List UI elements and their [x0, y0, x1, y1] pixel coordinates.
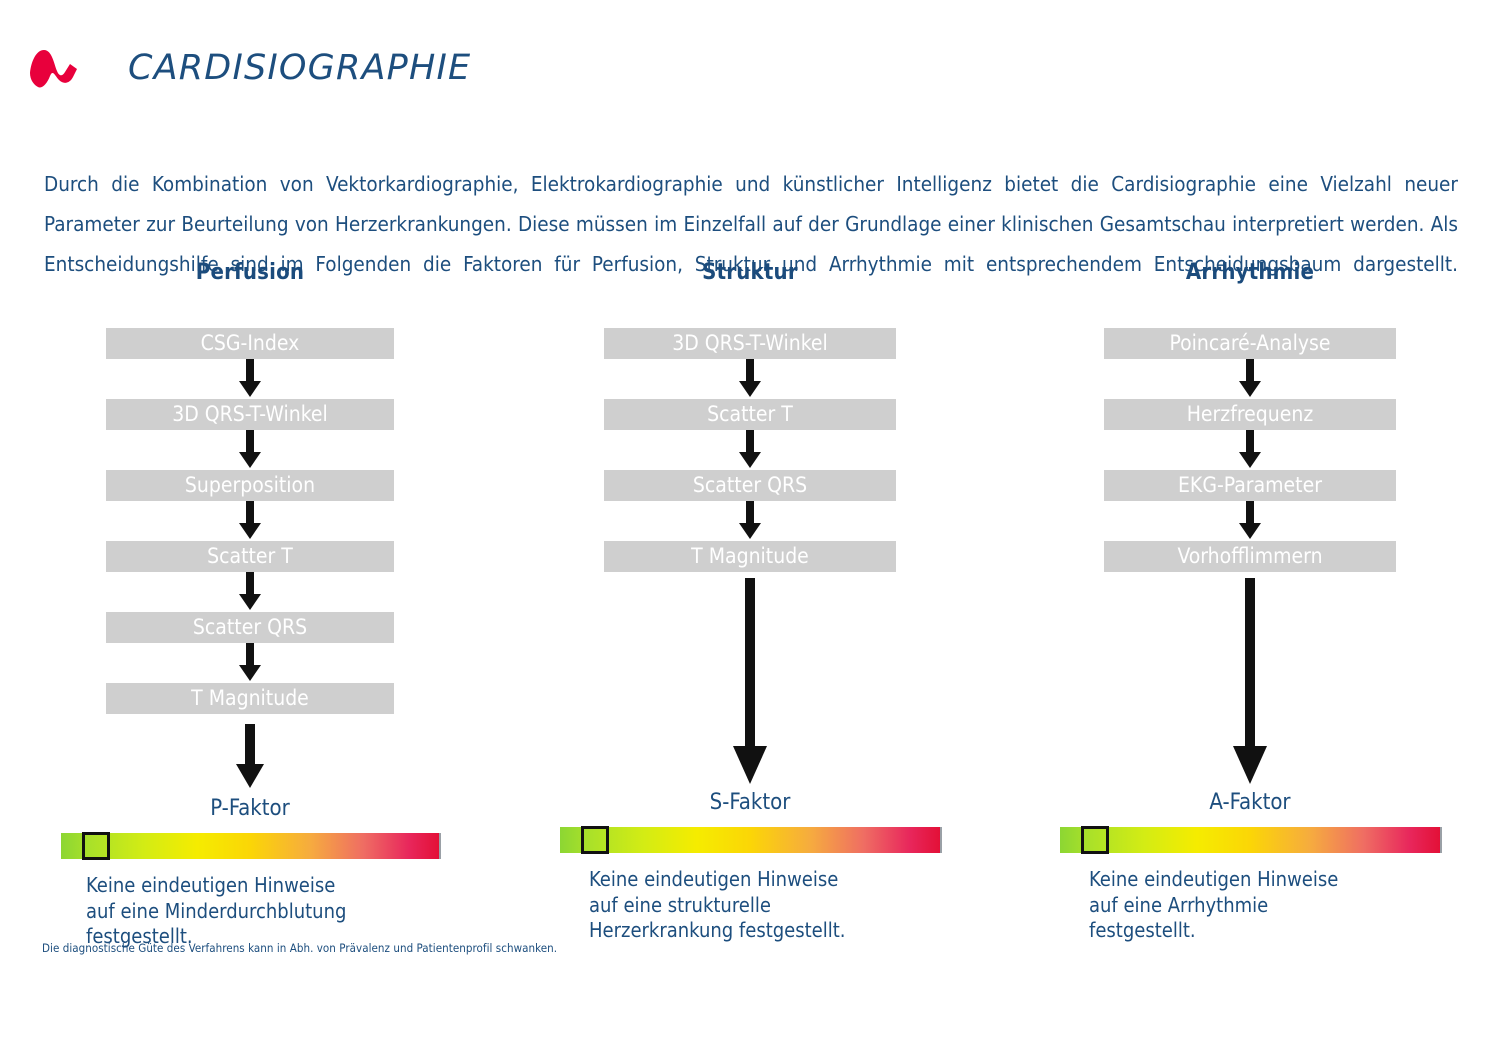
result-note-arrhythmie: Keine eindeutigen Hinweise auf eine Arrh… [1089, 867, 1389, 944]
heartbeat-wave-icon [28, 44, 90, 92]
result-note-struktur: Keine eindeutigen Hinweise auf eine stru… [589, 867, 889, 944]
column-struktur: Struktur 3D QRS-T-Winkel Scatter T Scatt… [500, 258, 1000, 950]
arrow-down-long-icon [728, 578, 772, 786]
factor-scale-arrhythmie[interactable] [1060, 827, 1440, 853]
arrow-down-long-icon [232, 724, 268, 790]
arrow-down-icon [235, 501, 265, 541]
arrow-down-icon [735, 501, 765, 541]
decision-tree-columns: Perfusion CSG-Index 3D QRS-T-Winkel Supe… [0, 258, 1500, 950]
param-box[interactable]: Herzfrequenz [1104, 399, 1396, 430]
param-box[interactable]: Scatter T [106, 541, 394, 572]
arrow-down-icon [735, 430, 765, 470]
column-title-struktur: Struktur [702, 258, 798, 288]
arrow-down-icon [1235, 501, 1265, 541]
disclaimer-footnote: Die diagnostische Güte des Verfahrens ka… [42, 941, 557, 955]
param-box[interactable]: 3D QRS-T-Winkel [106, 399, 394, 430]
parameter-chain-perfusion: CSG-Index 3D QRS-T-Winkel Superposition … [106, 328, 394, 714]
factor-scale-perfusion[interactable] [61, 833, 439, 859]
arrow-down-icon [1235, 430, 1265, 470]
scale-marker[interactable] [581, 826, 609, 854]
param-box[interactable]: Poincaré-Analyse [1104, 328, 1396, 359]
param-box[interactable]: 3D QRS-T-Winkel [604, 328, 896, 359]
param-box[interactable]: Scatter QRS [604, 470, 896, 501]
param-box[interactable]: EKG-Parameter [1104, 470, 1396, 501]
scale-gradient-bar [560, 827, 942, 853]
arrow-down-long-icon [1228, 578, 1272, 786]
scale-marker[interactable] [1081, 826, 1109, 854]
column-perfusion: Perfusion CSG-Index 3D QRS-T-Winkel Supe… [0, 258, 500, 950]
column-title-arrhythmie: Arrhythmie [1186, 258, 1314, 288]
param-box[interactable]: T Magnitude [106, 683, 394, 714]
parameter-chain-arrhythmie: Poincaré-Analyse Herzfrequenz EKG-Parame… [1104, 328, 1396, 572]
param-box[interactable]: Scatter QRS [106, 612, 394, 643]
parameter-chain-struktur: 3D QRS-T-Winkel Scatter T Scatter QRS T … [604, 328, 896, 572]
param-box[interactable]: Vorhofflimmern [1104, 541, 1396, 572]
arrow-down-icon [735, 359, 765, 399]
param-box[interactable]: Scatter T [604, 399, 896, 430]
factor-label-s: S-Faktor [710, 790, 791, 816]
column-title-perfusion: Perfusion [196, 258, 304, 288]
arrow-down-icon [235, 572, 265, 612]
factor-label-a: A-Faktor [1209, 790, 1290, 816]
param-box[interactable]: Superposition [106, 470, 394, 501]
factor-scale-struktur[interactable] [560, 827, 940, 853]
brand-wordmark: CARDISIOGRAPHIE [128, 48, 471, 88]
factor-label-p: P-Faktor [210, 796, 290, 822]
scale-gradient-bar [1060, 827, 1442, 853]
scale-gradient-bar [61, 833, 441, 859]
arrow-down-icon [235, 359, 265, 399]
arrow-down-icon [1235, 359, 1265, 399]
arrow-down-icon [235, 430, 265, 470]
arrow-down-icon [235, 643, 265, 683]
brand-header: CARDISIOGRAPHIE [28, 36, 471, 100]
param-box[interactable]: T Magnitude [604, 541, 896, 572]
scale-marker[interactable] [82, 832, 110, 860]
param-box[interactable]: CSG-Index [106, 328, 394, 359]
result-note-perfusion: Keine eindeutigen Hinweise auf eine Mind… [86, 873, 386, 950]
column-arrhythmie: Arrhythmie Poincaré-Analyse Herzfrequenz… [1000, 258, 1500, 950]
